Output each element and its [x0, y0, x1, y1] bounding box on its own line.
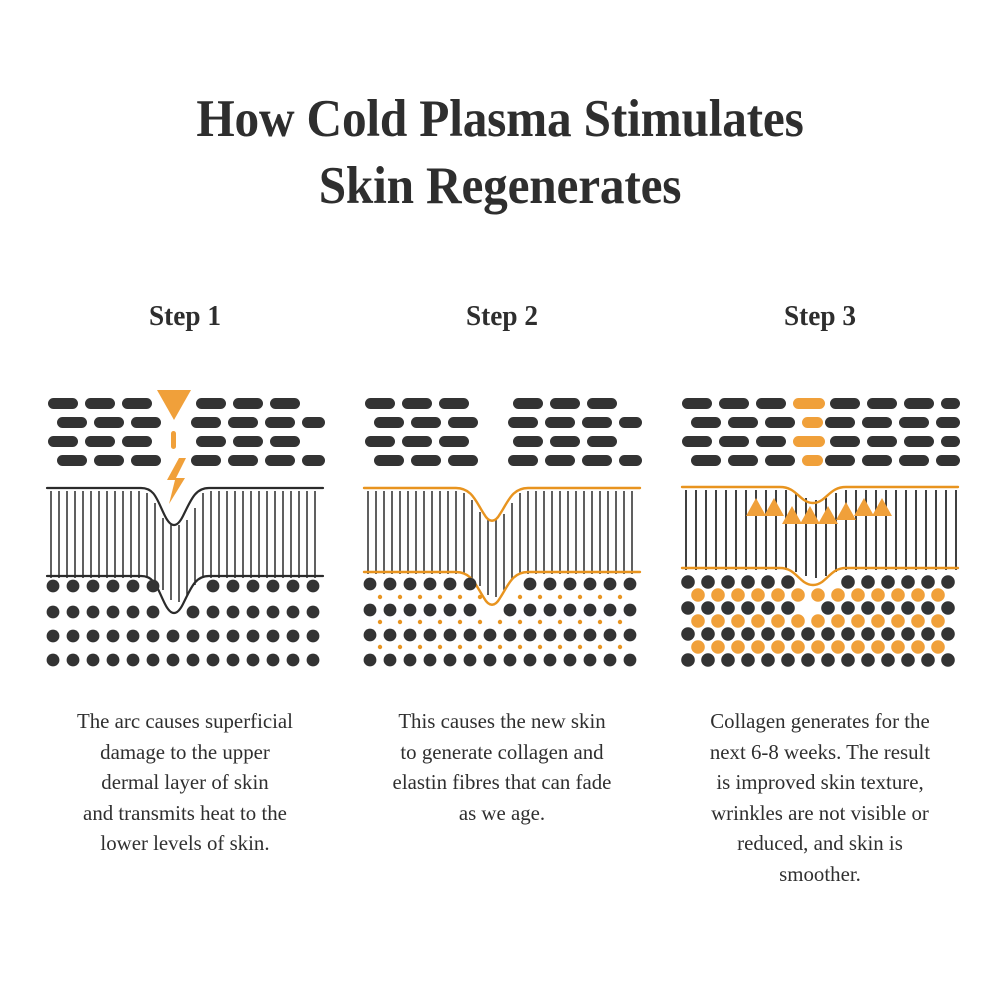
step-diagram-1 — [45, 390, 325, 670]
caption-line: to generate collagen and — [400, 740, 603, 764]
epidermis-dashes — [48, 398, 325, 466]
step-column-1: Step 1 — [25, 0, 345, 1000]
spark-dash-icon — [171, 431, 176, 449]
caption-line: reduced, and skin is — [737, 831, 903, 855]
step-caption-1: The arc causes superficial damage to the… — [30, 706, 340, 859]
subcutaneous-dots — [47, 580, 320, 667]
step-label-2: Step 2 — [352, 300, 653, 333]
collagen-specks — [378, 595, 622, 649]
step-label-1: Step 1 — [35, 300, 336, 333]
triangle-marker-icon — [157, 390, 191, 420]
caption-line: and transmits heat to the — [83, 801, 287, 825]
step-label-3: Step 3 — [670, 300, 971, 333]
caption-line: lower levels of skin. — [100, 831, 269, 855]
caption-line: is improved skin texture, — [716, 770, 923, 794]
caption-line: as we age. — [459, 801, 545, 825]
caption-line: smoother. — [779, 862, 861, 886]
step-diagram-2 — [362, 390, 642, 670]
caption-line: elastin fibres that can fade — [393, 770, 612, 794]
lightning-bolt-icon — [167, 458, 186, 504]
epidermis-center-dashes-highlight — [793, 398, 825, 466]
steps-container: Step 1 — [0, 0, 1000, 1000]
dermis-top-boundary — [364, 488, 640, 521]
collagen-dots — [691, 588, 945, 654]
caption-line: dermal layer of skin — [101, 770, 268, 794]
dermis-fibre-lines — [686, 490, 956, 578]
step-caption-3: Collagen generates for the next 6-8 week… — [665, 706, 975, 889]
step-diagram-3 — [680, 390, 960, 670]
caption-line: This causes the new skin — [398, 709, 605, 733]
epidermis-dashes — [365, 398, 642, 466]
step-column-2: Step 2 — [342, 0, 662, 1000]
caption-line: Collagen generates for the — [710, 709, 929, 733]
caption-line: wrinkles are not visible or — [711, 801, 929, 825]
caption-line: damage to the upper — [100, 740, 270, 764]
caption-line: The arc causes superficial — [77, 709, 293, 733]
step-column-3: Step 3 — [660, 0, 980, 1000]
dermis-top-boundary — [47, 488, 323, 525]
step-caption-2: This causes the new skin to generate col… — [347, 706, 657, 828]
caption-line: next 6-8 weeks. The result — [710, 740, 930, 764]
dermis-bottom-boundary — [47, 576, 323, 613]
